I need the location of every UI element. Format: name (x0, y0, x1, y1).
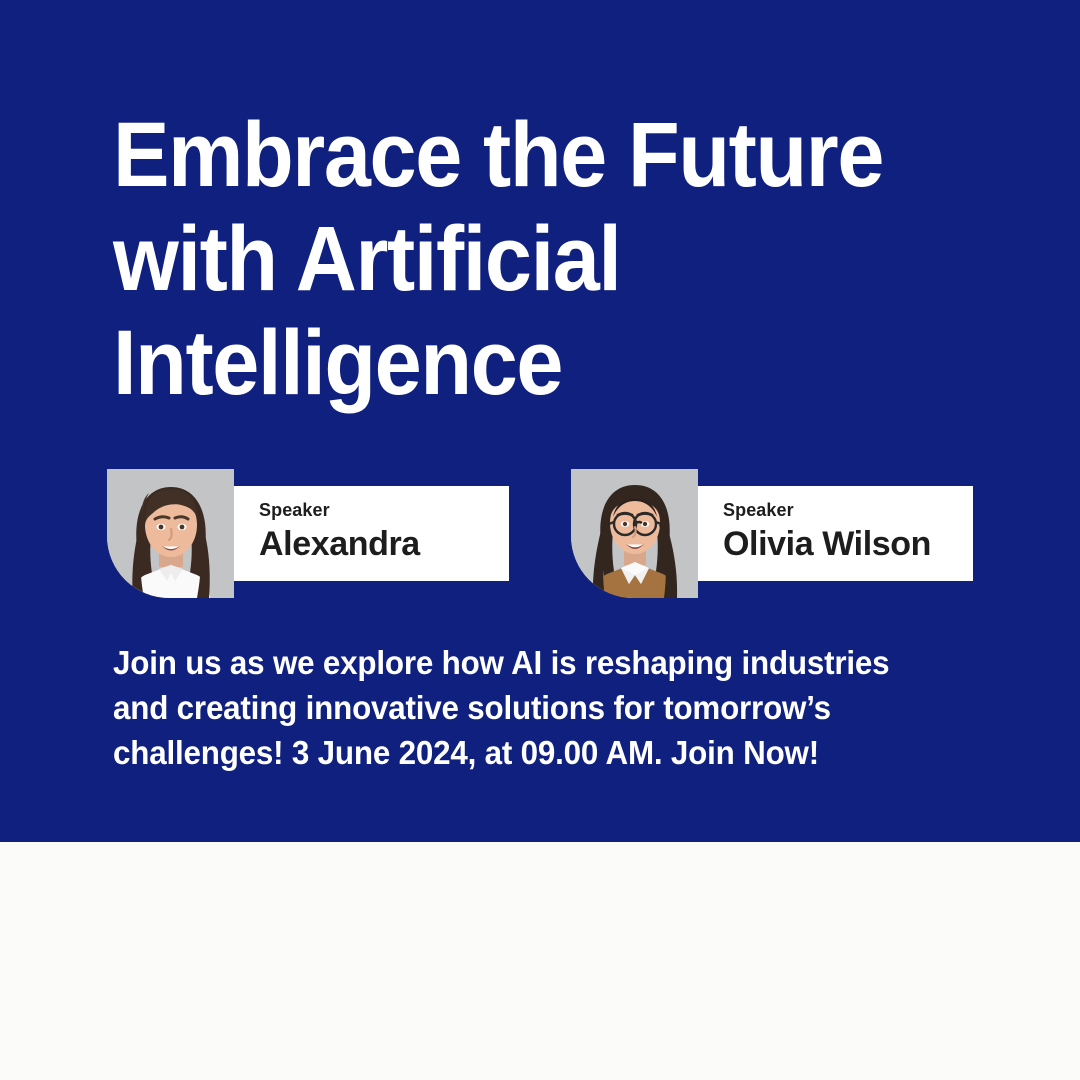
avatar (571, 469, 698, 598)
speaker-nameplate: Speaker Olivia Wilson (698, 486, 973, 581)
speaker-nameplate: Speaker Alexandra (234, 486, 509, 581)
speaker-role-label: Speaker (723, 500, 973, 520)
event-description: Join us as we explore how AI is reshapin… (113, 640, 949, 775)
speaker-role-label: Speaker (259, 500, 509, 520)
avatar (107, 469, 234, 598)
page-title: Embrace the Future with Artificial Intel… (113, 103, 941, 415)
speaker-list: Speaker Alexandra (0, 469, 1080, 599)
speaker-name: Alexandra (259, 524, 509, 564)
speaker-name: Olivia Wilson (723, 524, 973, 564)
event-poster: Embrace the Future with Artificial Intel… (0, 0, 1080, 1080)
hero-section: Embrace the Future with Artificial Intel… (0, 0, 1080, 842)
footer-section: Capcut Free Registration! Follow our soc… (0, 842, 1080, 1080)
